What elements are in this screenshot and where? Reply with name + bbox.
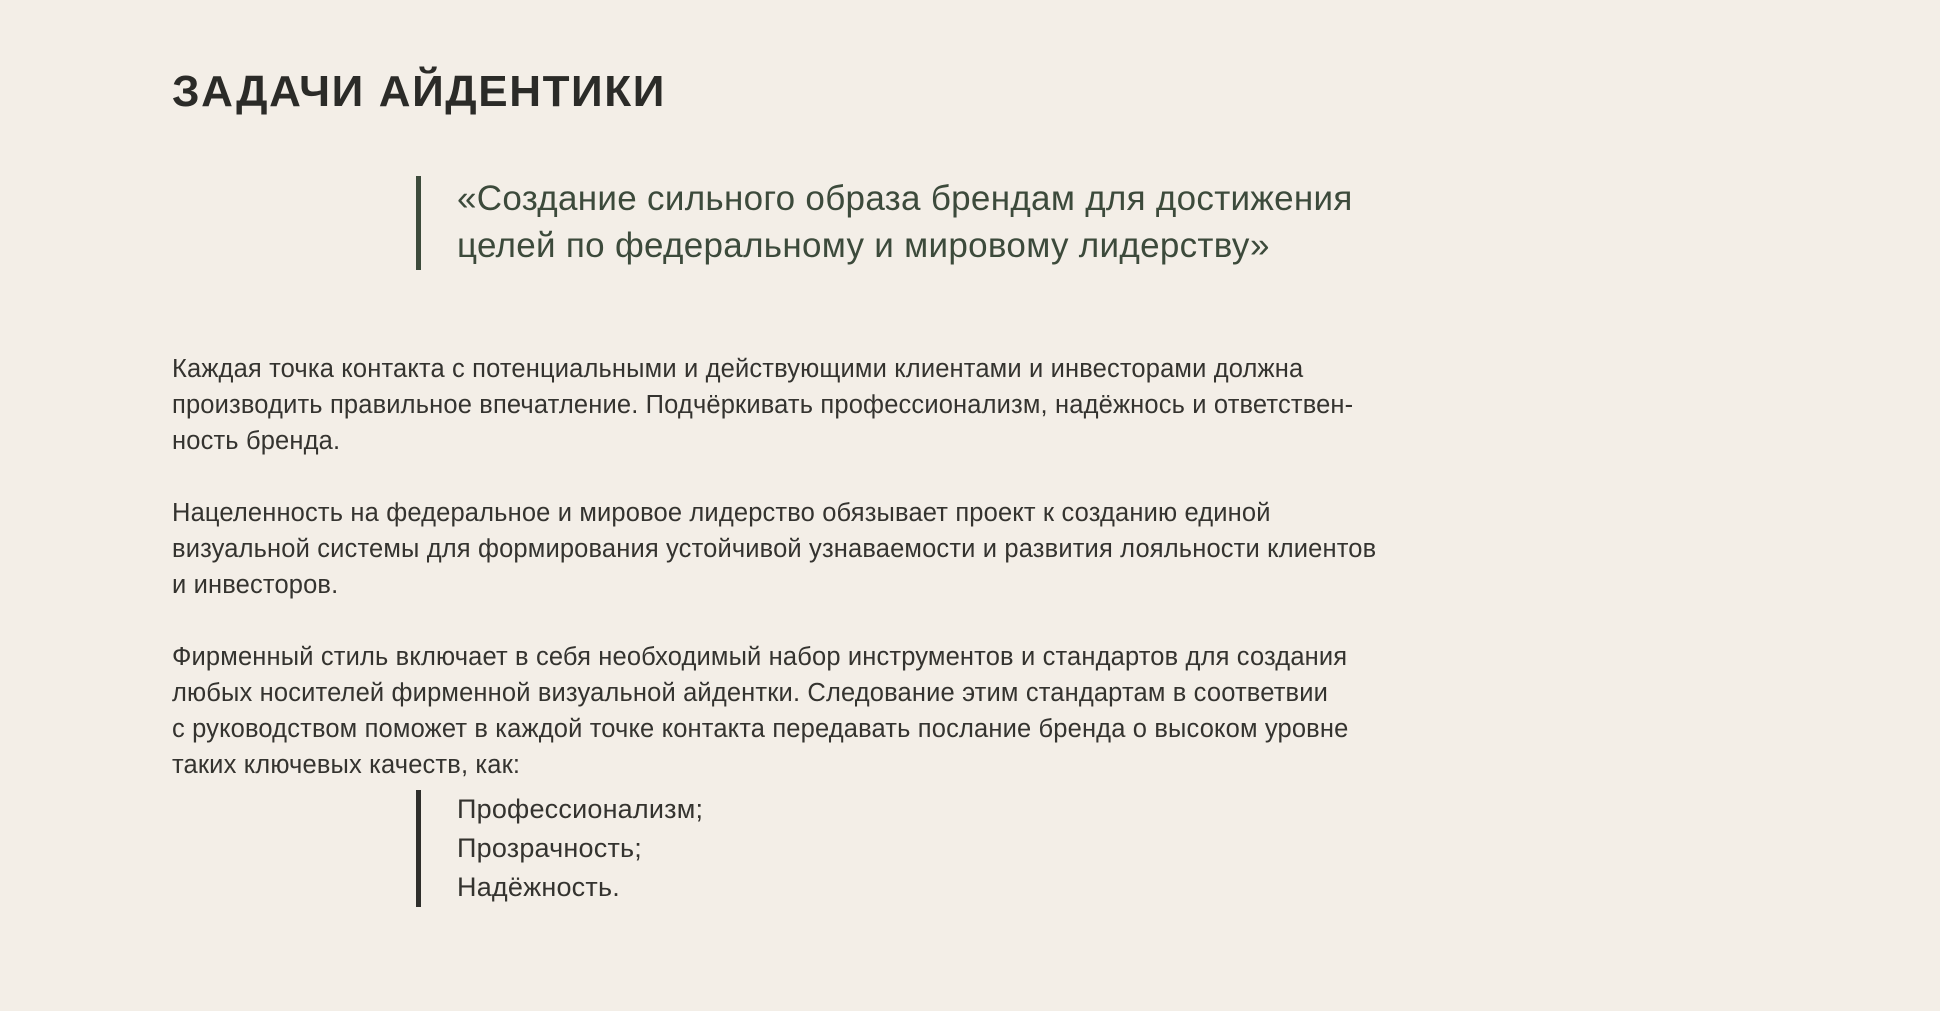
paragraph-line: Фирменный стиль включает в себя необходи… [172,640,1812,676]
list-item: Надёжность. [457,868,703,907]
quote-block: «Создание сильного образа брендам для до… [416,176,1353,270]
paragraph-line: производить правильное впечатление. Подч… [172,388,1812,424]
slide-root: ЗАДАЧИ АЙДЕНТИКИ «Создание сильного обра… [0,0,1940,1011]
paragraph: Фирменный стиль включает в себя необходи… [172,640,1812,784]
paragraph-line: Нацеленность на федеральное и мировое ли… [172,496,1812,532]
paragraph: Нацеленность на федеральное и мировое ли… [172,496,1812,604]
paragraph-line: ность бренда. [172,424,1812,460]
qualities-list-block: Профессионализм; Прозрачность; Надёжност… [416,790,703,907]
quote-accent-rule [416,176,421,270]
qualities-list: Профессионализм; Прозрачность; Надёжност… [457,790,703,907]
paragraph-line: Каждая точка контакта с потенциальными и… [172,352,1812,388]
paragraph-line: и инвесторов. [172,568,1812,604]
body-column: Каждая точка контакта с потенциальными и… [172,352,1812,784]
paragraph-line: с руководством поможет в каждой точке ко… [172,712,1812,748]
quote-line: целей по федеральному и мировому лидерст… [457,223,1353,270]
quote-text: «Создание сильного образа брендам для до… [457,176,1353,270]
quote-line: «Создание сильного образа брендам для до… [457,176,1353,223]
paragraph-line: любых носителей фирменной визуальной айд… [172,676,1812,712]
list-accent-rule [416,790,421,907]
list-item: Профессионализм; [457,790,703,829]
paragraph: Каждая точка контакта с потенциальными и… [172,352,1812,460]
paragraph-line: визуальной системы для формирования усто… [172,532,1812,568]
list-item: Прозрачность; [457,829,703,868]
page-title: ЗАДАЧИ АЙДЕНТИКИ [172,68,666,116]
paragraph-line: таких ключевых качеств, как: [172,748,1812,784]
